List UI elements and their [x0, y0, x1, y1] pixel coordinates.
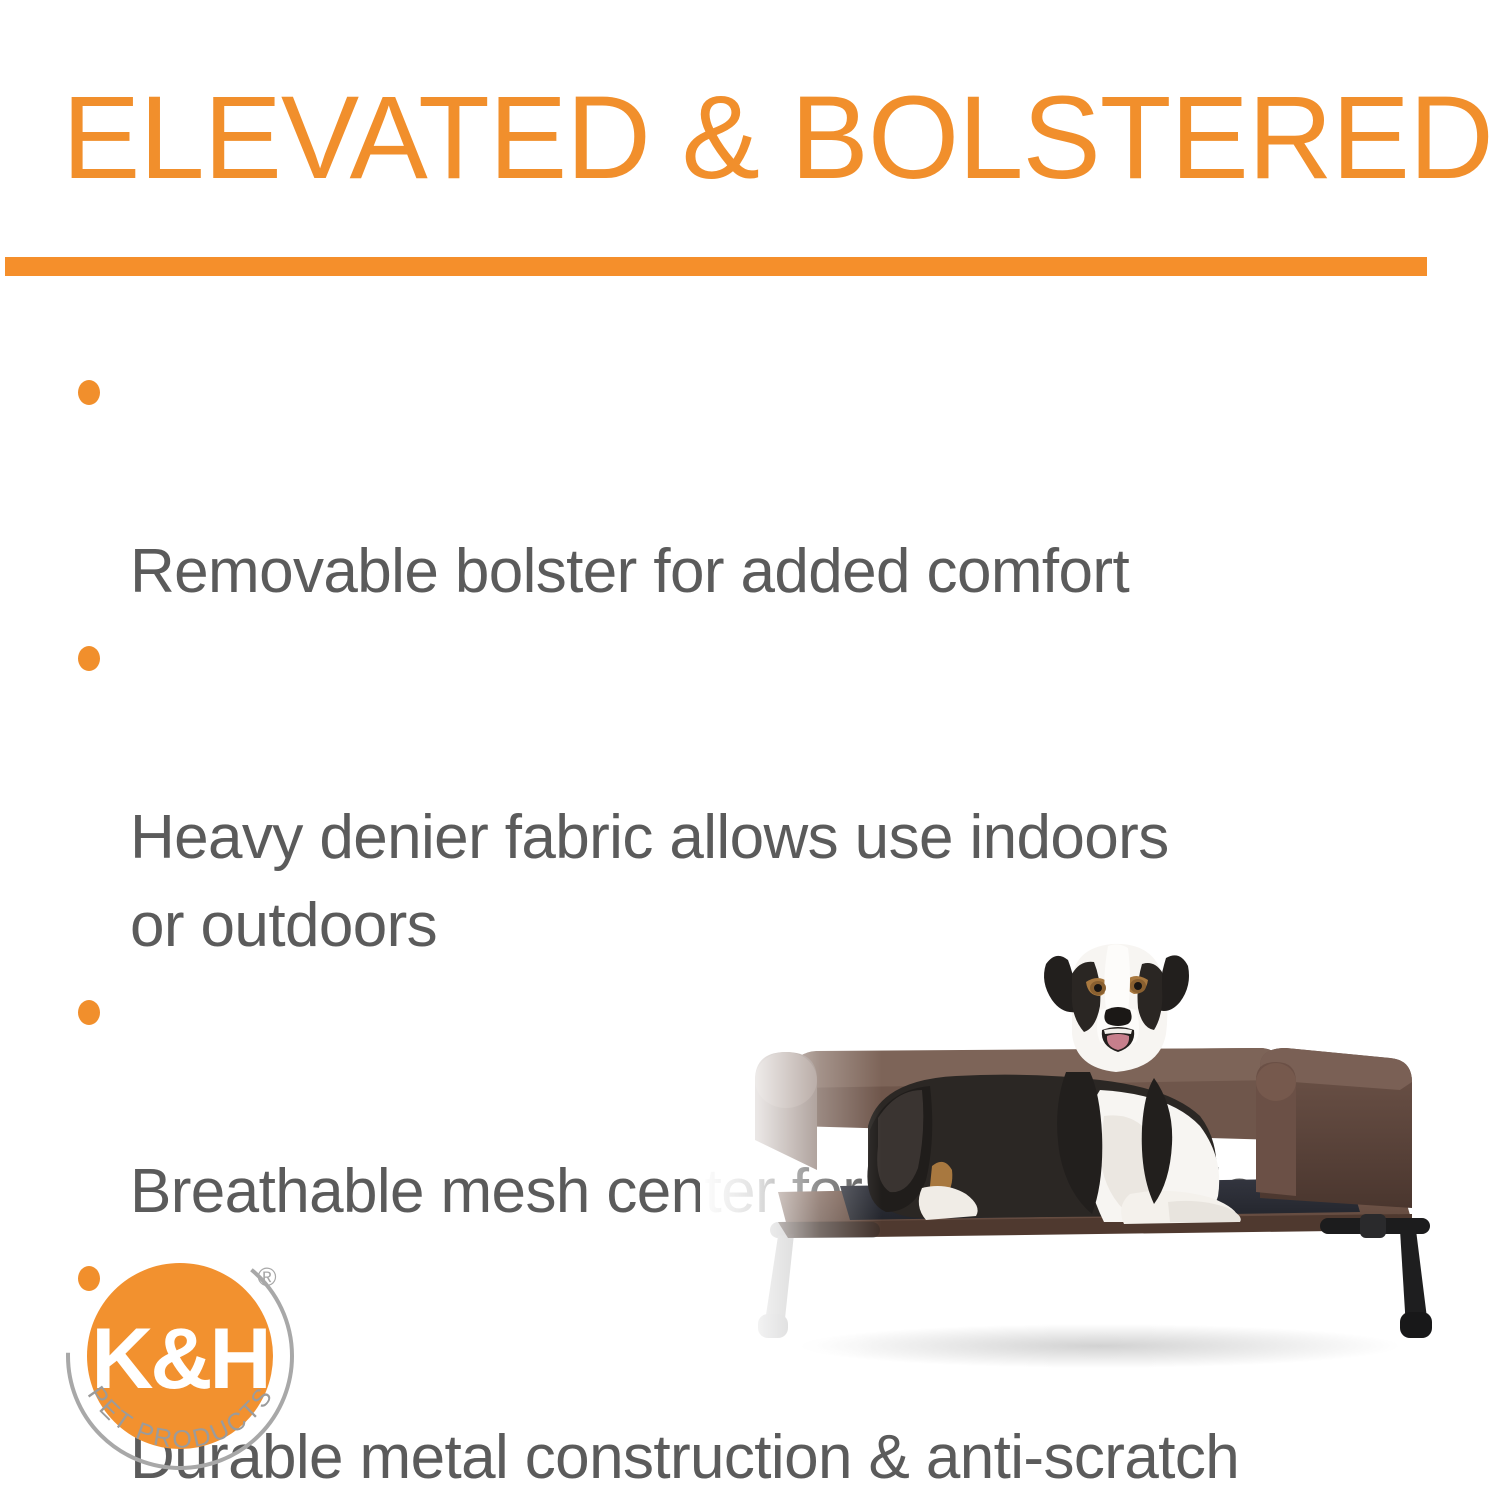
registered-mark-icon: ® — [257, 1262, 276, 1292]
list-item: Removable bolster for added comfort — [68, 352, 1468, 616]
dog-ear-right — [1158, 955, 1189, 1011]
bed-right-bolster — [1256, 1048, 1412, 1208]
brand-logo: K&H ® PET PRODUCTS — [62, 1238, 317, 1488]
page-title: ELEVATED & BOLSTERED — [62, 78, 1455, 198]
dog-nose — [1104, 1007, 1131, 1026]
header-divider — [5, 257, 1427, 276]
dog-ear-left — [1044, 956, 1076, 1012]
rubber-foot — [1400, 1312, 1432, 1338]
photo-left-fade — [700, 930, 960, 1390]
list-item-label: Removable bolster for added comfort — [130, 537, 1129, 606]
product-photo — [700, 930, 1500, 1390]
logo-wordmark: K&H — [91, 1311, 268, 1407]
bullet-dot-icon — [78, 380, 100, 405]
bullet-dot-icon — [78, 1000, 100, 1025]
list-item: Heavy denier fabric allows use indoors o… — [68, 618, 1468, 970]
bullet-dot-icon — [78, 646, 100, 671]
